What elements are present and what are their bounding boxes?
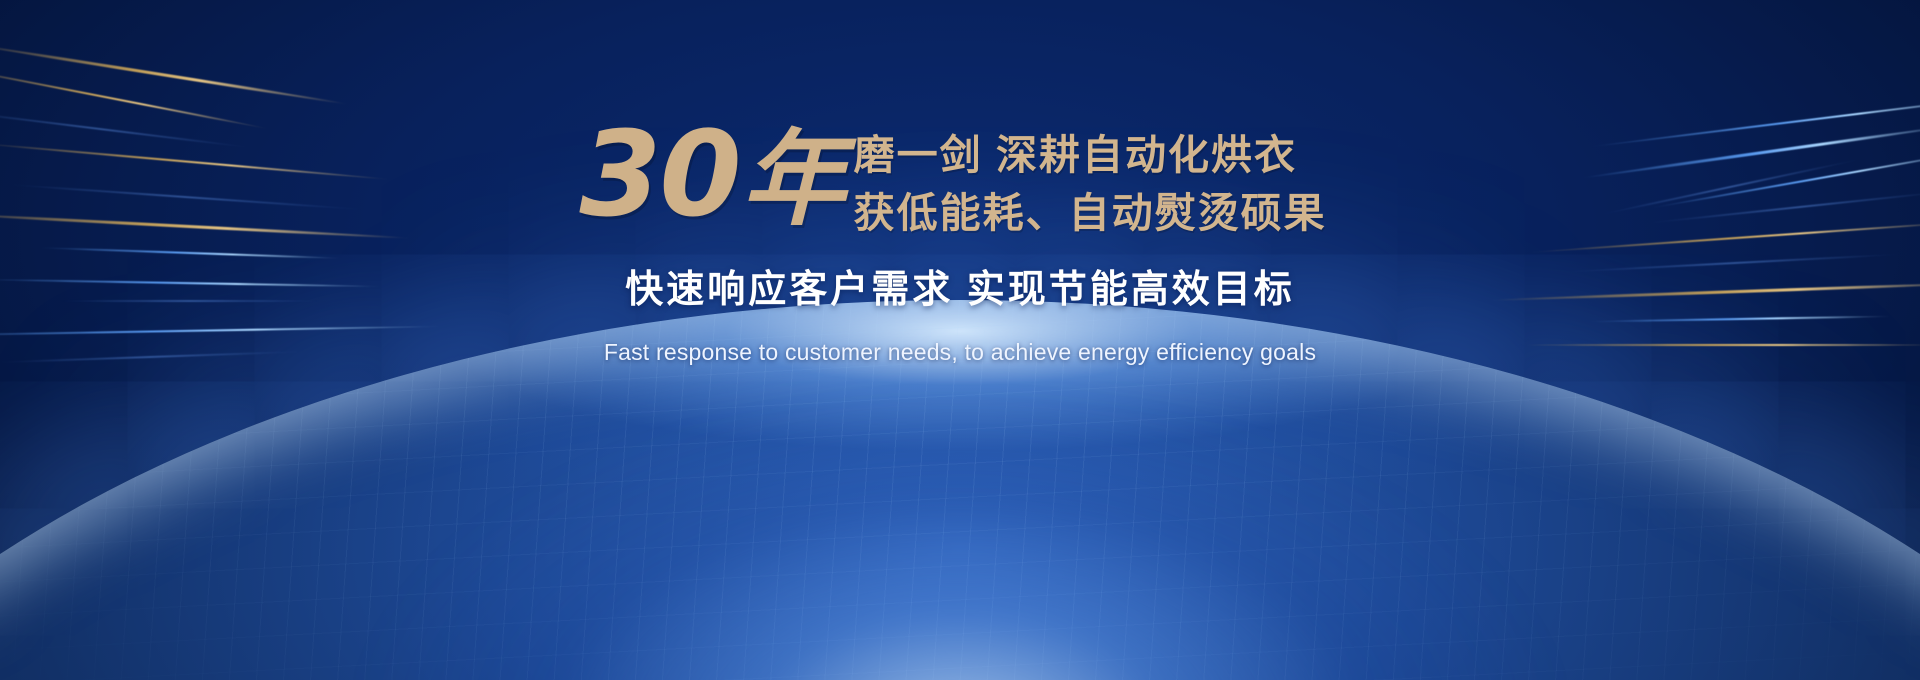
anniversary-number-group: 30 年 [579, 118, 843, 231]
gold-slogan-line-1: 磨一剑 深耕自动化烘衣 [854, 126, 1327, 184]
banner-content: 30 年 磨一剑 深耕自动化烘衣 获低能耗、自动熨烫硕果 快速响应客户需求 实现… [0, 0, 1920, 366]
anniversary-number: 30 [579, 118, 739, 230]
gold-slogan-group: 磨一剑 深耕自动化烘衣 获低能耗、自动熨烫硕果 [854, 118, 1327, 242]
gold-slogan-line-2: 获低能耗、自动熨烫硕果 [854, 184, 1327, 242]
anniversary-unit: 年 [742, 129, 844, 231]
headline-group: 30 年 磨一剑 深耕自动化烘衣 获低能耗、自动熨烫硕果 [579, 118, 1326, 242]
hero-banner: 30 年 磨一剑 深耕自动化烘衣 获低能耗、自动熨烫硕果 快速响应客户需求 实现… [0, 0, 1920, 680]
subheadline-chinese: 快速响应客户需求 实现节能高效目标 [625, 258, 1295, 313]
subheadline-english: Fast response to customer needs, to achi… [604, 339, 1316, 366]
